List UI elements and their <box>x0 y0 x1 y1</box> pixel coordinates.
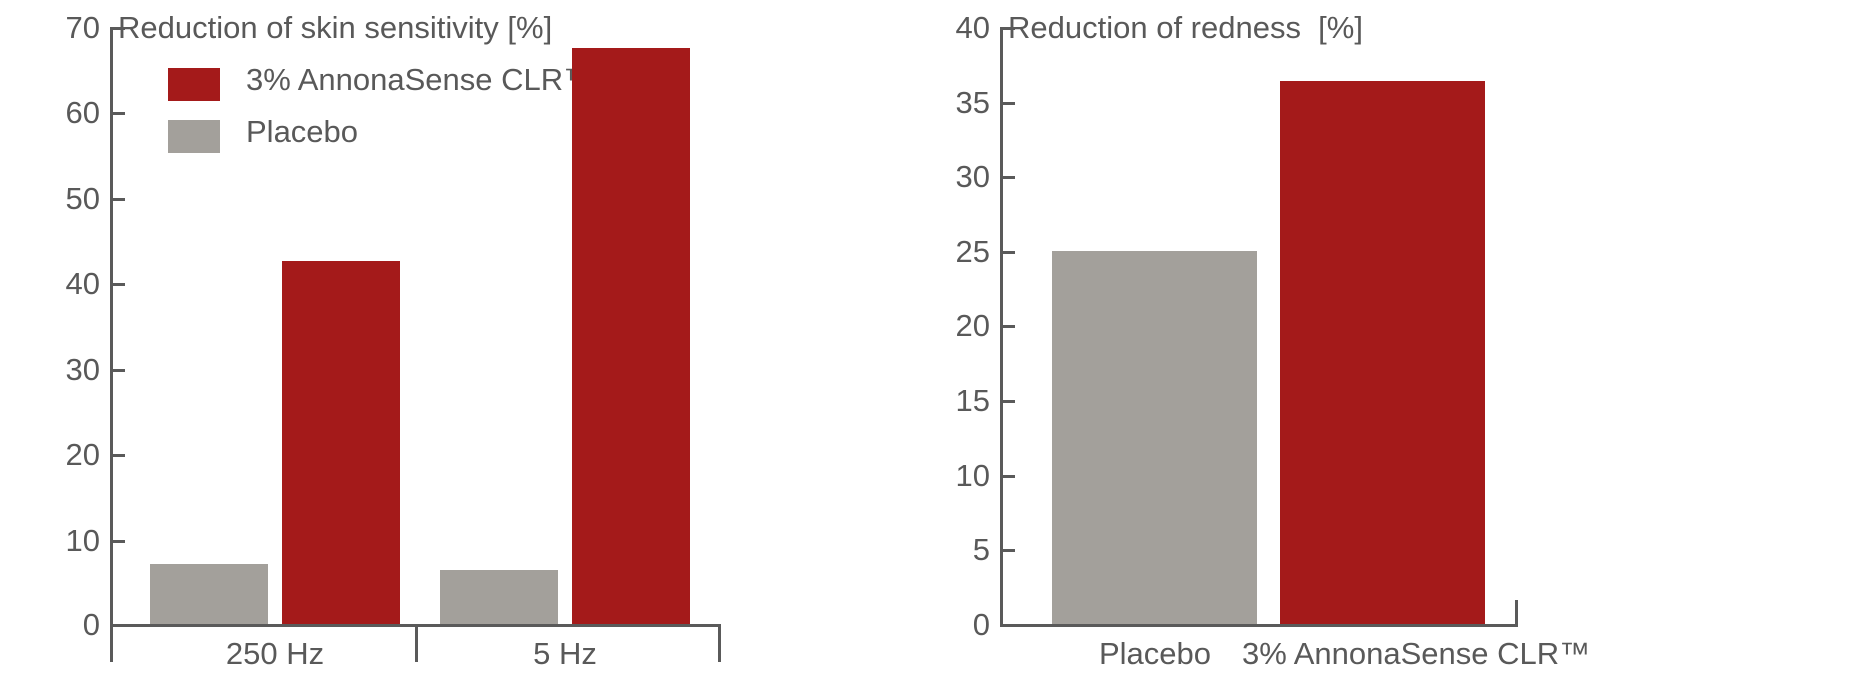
y-tick-20-right <box>1000 325 1015 328</box>
chart-page: Reduction of skin sensitivity [%] 70 60 … <box>0 0 1861 699</box>
y-tick-label-20-right: 20 <box>915 310 990 341</box>
x-axis-group-separator <box>415 624 418 662</box>
y-tick-15-right <box>1000 400 1015 403</box>
y-tick-label-30-right: 30 <box>915 161 990 192</box>
y-tick-label-0: 0 <box>20 609 100 640</box>
chart-title-right: Reduction of redness [%] <box>1008 12 1363 43</box>
y-tick-50 <box>110 198 125 201</box>
bar-annonasense-5hz <box>572 48 690 624</box>
y-tick-10-right <box>1000 475 1015 478</box>
y-tick-label-35-right: 35 <box>915 87 990 118</box>
y-tick-label-25-right: 25 <box>915 236 990 267</box>
y-tick-label-10-right: 10 <box>915 460 990 491</box>
y-tick-40 <box>110 283 125 286</box>
legend-swatch-grey-icon <box>168 120 220 153</box>
y-tick-label-0-right: 0 <box>915 609 990 640</box>
chart-redness: Reduction of redness [%] 40 35 30 25 20 … <box>960 0 1861 699</box>
y-tick-35-right <box>1000 102 1015 105</box>
y-tick-label-15-right: 15 <box>915 385 990 416</box>
x-category-label-250hz: 250 Hz <box>150 638 400 669</box>
legend-label-placebo: Placebo <box>246 115 358 149</box>
chart-skin-sensitivity: Reduction of skin sensitivity [%] 70 60 … <box>0 0 900 699</box>
y-tick-label-10: 10 <box>20 525 100 556</box>
y-tick-label-20: 20 <box>20 439 100 470</box>
y-tick-30 <box>110 369 125 372</box>
legend-label-annonasense: 3% AnnonaSense CLR™ <box>246 63 594 97</box>
y-tick-label-70: 70 <box>20 12 100 43</box>
y-tick-label-60: 60 <box>20 97 100 128</box>
x-category-label-annonasense: 3% AnnonaSense CLR™ <box>1242 638 1522 669</box>
plot-area-right: Reduction of redness [%] 40 35 30 25 20 … <box>960 0 1861 699</box>
y-tick-60 <box>110 112 125 115</box>
y-tick-label-5-right: 5 <box>915 534 990 565</box>
plot-area-left: Reduction of skin sensitivity [%] 70 60 … <box>0 0 900 699</box>
y-tick-30-right <box>1000 176 1015 179</box>
x-category-label-5hz: 5 Hz <box>440 638 690 669</box>
y-tick-label-40: 40 <box>20 268 100 299</box>
x-axis-end-cap-right <box>1515 600 1518 627</box>
y-tick-70 <box>110 27 125 30</box>
x-axis-start-cap <box>110 624 113 662</box>
y-axis-line-left <box>110 27 113 627</box>
bar-placebo-5hz <box>440 570 558 624</box>
legend-swatch-red-icon <box>168 68 220 101</box>
y-tick-5-right <box>1000 549 1015 552</box>
y-tick-25-right <box>1000 251 1015 254</box>
bar-annonasense-redness <box>1280 81 1485 624</box>
x-axis-end-cap <box>718 624 721 662</box>
y-tick-40-right <box>1000 27 1015 30</box>
bar-placebo-250hz <box>150 564 268 624</box>
bar-annonasense-250hz <box>282 261 400 624</box>
x-axis-line-right <box>1000 624 1518 627</box>
y-tick-20 <box>110 454 125 457</box>
y-tick-label-50: 50 <box>20 183 100 214</box>
y-tick-label-40-right: 40 <box>915 12 990 43</box>
y-tick-10 <box>110 540 125 543</box>
bar-placebo-redness <box>1052 251 1257 624</box>
chart-title-left: Reduction of skin sensitivity [%] <box>118 12 552 43</box>
y-tick-label-30: 30 <box>20 354 100 385</box>
